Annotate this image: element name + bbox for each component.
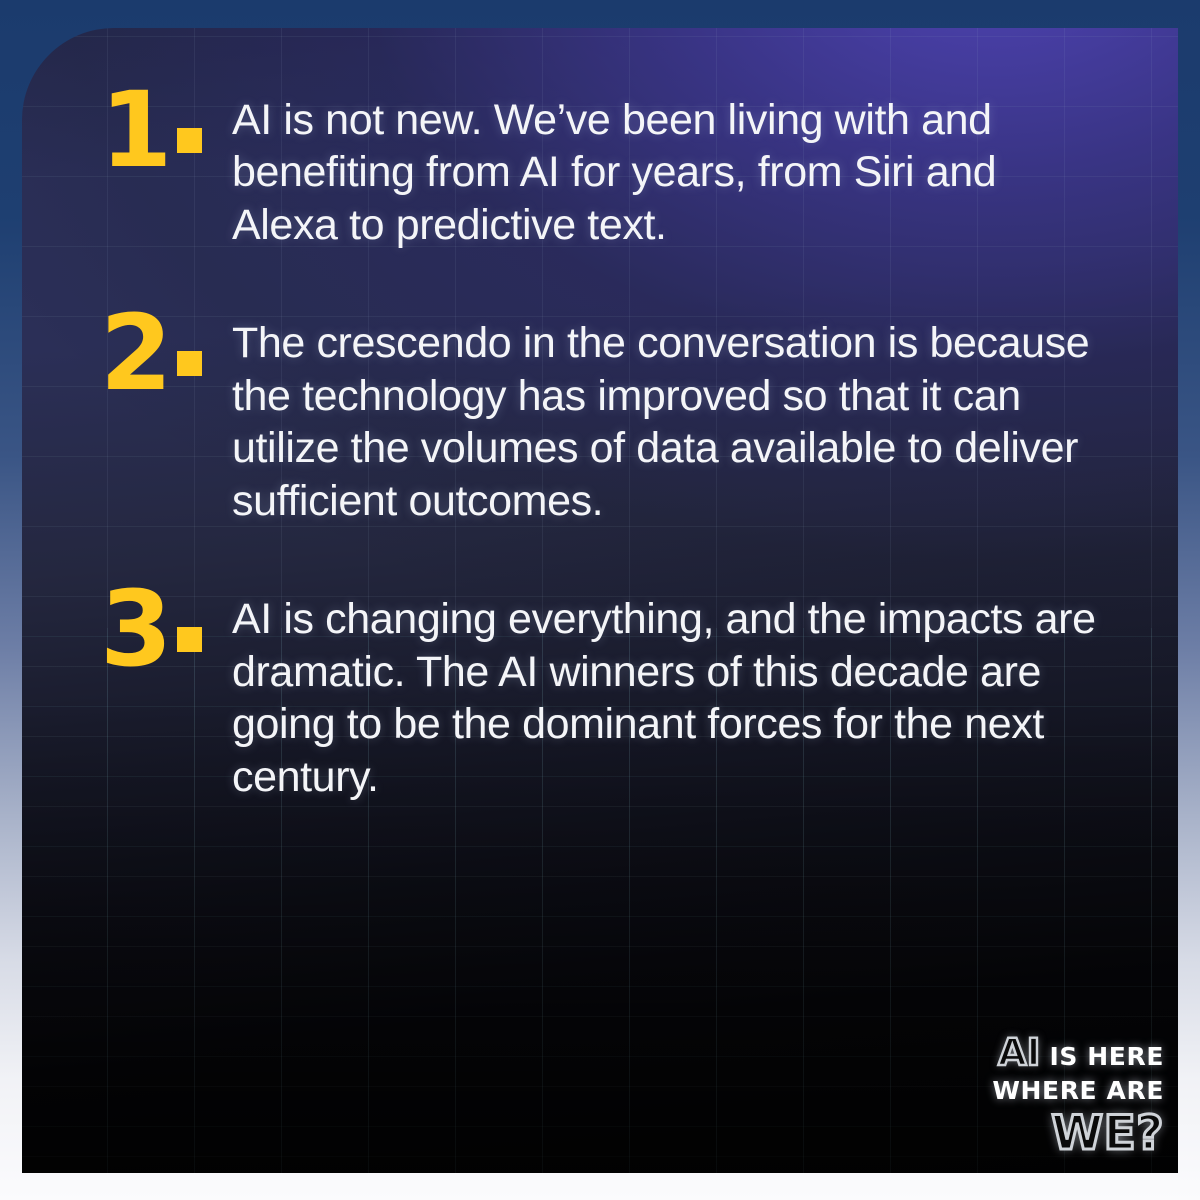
logo-is-here-text: IS HERE	[1049, 1044, 1164, 1069]
list-item-number-dot	[177, 128, 202, 153]
page-backdrop: 1 AI is not new. We’ve been living with …	[0, 0, 1200, 1200]
list-item-number-dot	[177, 351, 202, 376]
list-item-number-digit: 2	[100, 305, 170, 402]
logo-we-text: WE?	[1051, 1110, 1164, 1157]
list-item: 1 AI is not new. We’ve been living with …	[84, 90, 1108, 251]
logo-line-three: WE?	[978, 1110, 1164, 1157]
logo-ai-text: AI	[998, 1034, 1040, 1071]
brand-logo: AI IS HERE WHERE ARE WE?	[978, 1034, 1164, 1157]
list-item-number-digit: 1	[100, 82, 170, 179]
list-item-text: AI is changing everything, and the impac…	[232, 589, 1108, 803]
list-item-text: AI is not new. We’ve been living with an…	[232, 90, 1108, 251]
list-item-number: 3	[84, 581, 232, 678]
numbered-points-list: 1 AI is not new. We’ve been living with …	[22, 28, 1178, 1173]
logo-line-one: AI IS HERE	[978, 1034, 1164, 1071]
logo-where-are-text: WHERE ARE	[992, 1078, 1164, 1103]
list-item-number: 1	[84, 82, 232, 179]
list-item-text: The crescendo in the conversation is bec…	[232, 313, 1108, 527]
list-item-number-digit: 3	[100, 581, 170, 678]
list-item: 3 AI is changing everything, and the imp…	[84, 589, 1108, 803]
list-item: 2 The crescendo in the conversation is b…	[84, 313, 1108, 527]
list-item-number-dot	[177, 627, 202, 652]
list-item-number: 2	[84, 305, 232, 402]
logo-line-two: WHERE ARE	[978, 1078, 1164, 1103]
content-card: 1 AI is not new. We’ve been living with …	[22, 28, 1178, 1173]
